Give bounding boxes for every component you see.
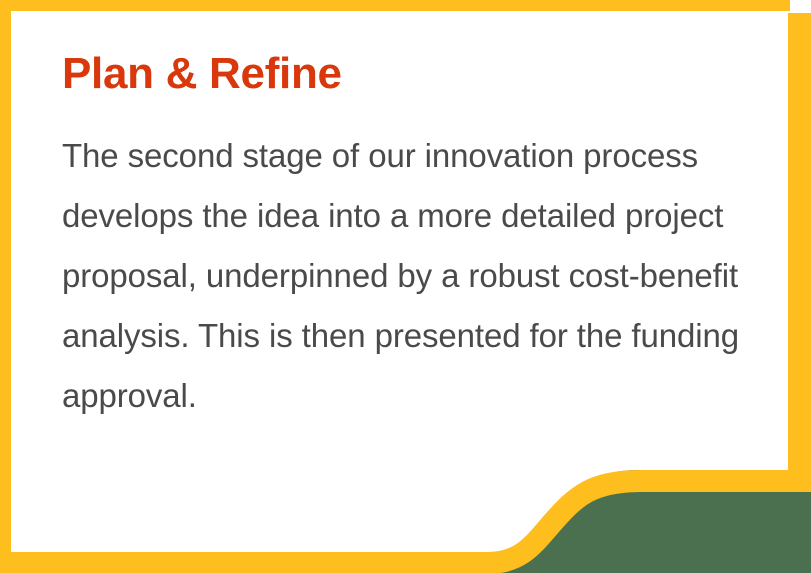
card-body-text: The second stage of our innovation proce…: [62, 126, 751, 426]
stage: Plan & Refine The second stage of our in…: [0, 0, 811, 573]
card-content: Plan & Refine The second stage of our in…: [0, 0, 811, 573]
card-title: Plan & Refine: [62, 46, 751, 102]
